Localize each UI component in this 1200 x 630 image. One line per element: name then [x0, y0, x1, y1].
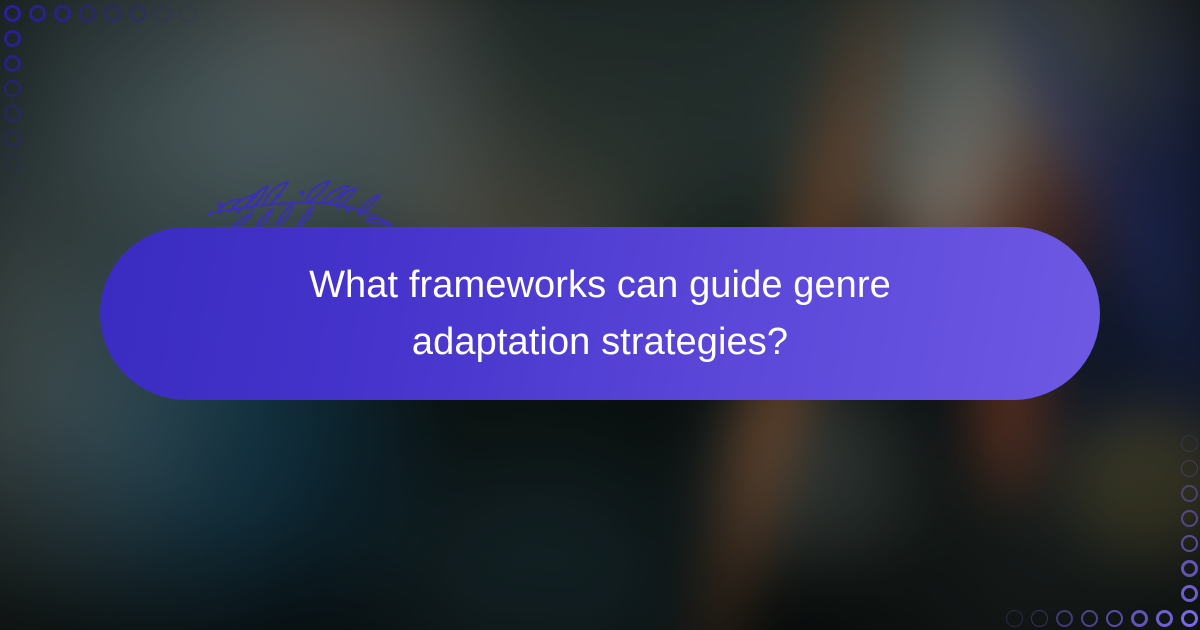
decorative-dot — [4, 80, 21, 97]
decorative-dot — [4, 30, 21, 47]
question-card-canvas: What frameworks can guide genre adaptati… — [0, 0, 1200, 630]
question-text: What frameworks can guide genre adaptati… — [220, 257, 980, 369]
decorative-dot — [1181, 485, 1198, 502]
decorative-dot — [54, 5, 71, 22]
decorative-dot — [4, 5, 21, 22]
decorative-dot — [1056, 610, 1073, 627]
decorative-dot — [79, 5, 96, 22]
decorative-dot — [1156, 610, 1173, 627]
decorative-dots-top-left — [0, 0, 260, 260]
decorative-dot — [179, 5, 196, 22]
decorative-dot — [1181, 435, 1198, 452]
decorative-dot — [1181, 585, 1198, 602]
decorative-dot — [104, 5, 121, 22]
decorative-dot — [1181, 610, 1198, 627]
decorative-dot — [1181, 460, 1198, 477]
decorative-dot — [1181, 535, 1198, 552]
decorative-dot — [1181, 510, 1198, 527]
decorative-dot — [4, 55, 21, 72]
decorative-dot — [1031, 610, 1048, 627]
decorative-dot — [1106, 610, 1123, 627]
decorative-dot — [4, 130, 21, 147]
decorative-dot — [1081, 610, 1098, 627]
decorative-dot — [29, 5, 46, 22]
decorative-dot — [4, 155, 21, 172]
decorative-dot — [1131, 610, 1148, 627]
decorative-dots-bottom-right — [940, 370, 1200, 630]
decorative-dot — [129, 5, 146, 22]
decorative-dot — [154, 5, 171, 22]
decorative-dot — [4, 105, 21, 122]
decorative-dot — [1006, 610, 1023, 627]
decorative-dot — [4, 180, 21, 197]
question-pill: What frameworks can guide genre adaptati… — [100, 227, 1100, 400]
decorative-dot — [1181, 560, 1198, 577]
